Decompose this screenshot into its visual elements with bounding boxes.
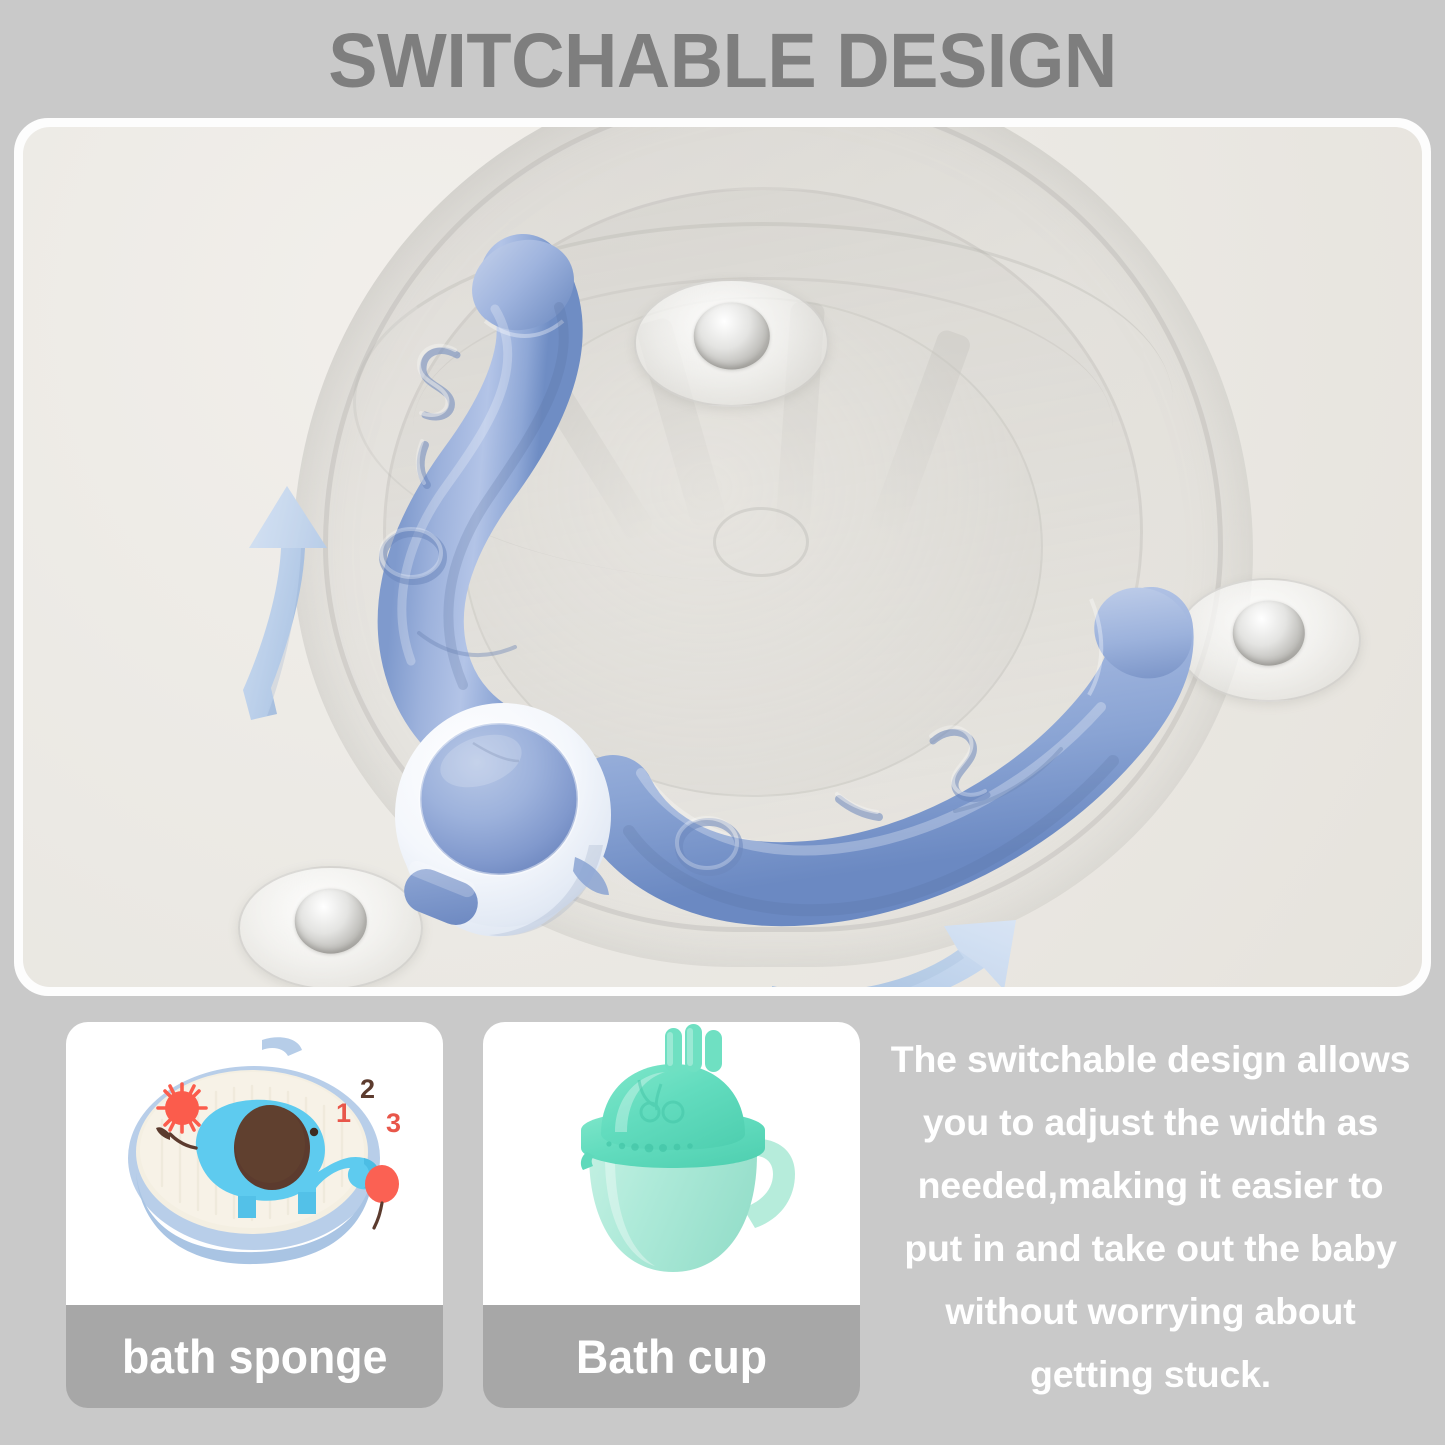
- description-line: needed,making it easier to: [868, 1154, 1433, 1217]
- hero-product-photo: [23, 127, 1422, 987]
- adjust-right-arrow-icon: [768, 902, 1048, 987]
- description-line: The switchable design allows: [868, 1028, 1433, 1091]
- center-hinge-hub[interactable]: [389, 699, 617, 944]
- suction-cup-icon: [634, 279, 829, 407]
- adjust-left-arrow-icon: [223, 482, 343, 727]
- description-line: you to adjust the width as: [868, 1091, 1433, 1154]
- right-adjustable-arm: [583, 547, 1203, 947]
- description-block: The switchable design allows you to adju…: [868, 1028, 1433, 1406]
- sponge-number-3: 3: [386, 1108, 401, 1138]
- product-card-bath-cup[interactable]: [483, 1022, 860, 1305]
- embossed-dash-motif: [837, 794, 879, 817]
- description-line: getting stuck.: [868, 1343, 1433, 1406]
- caption-label-bath-sponge: bath sponge: [122, 1329, 387, 1384]
- description-line: without worrying about: [868, 1280, 1433, 1343]
- page-title: SWITCHABLE DESIGN: [29, 18, 1416, 104]
- rabbit-ears-icon: [665, 1024, 722, 1072]
- embossed-dash-motif: [418, 441, 427, 485]
- bath-tub-drain: [713, 507, 809, 577]
- sponge-number-1: 1: [336, 1098, 351, 1128]
- bath-tub-rib: [867, 328, 972, 542]
- caption-bar-bath-sponge: bath sponge: [66, 1305, 443, 1408]
- rabbit-bath-cup-icon: [483, 1022, 860, 1305]
- embossed-s-motif: [931, 727, 987, 798]
- embossed-s-motif: [419, 346, 457, 417]
- caption-label-bath-cup: Bath cup: [576, 1329, 767, 1384]
- sponge-number-2: 2: [360, 1074, 375, 1104]
- embossed-circle-motif: [381, 529, 443, 581]
- balloon-motif: [365, 1165, 399, 1228]
- caption-bar-bath-cup: Bath cup: [483, 1305, 860, 1408]
- embossed-circle-motif: [677, 818, 739, 872]
- product-card-bath-sponge[interactable]: 1 2 3: [66, 1022, 443, 1305]
- elephant-bath-sponge-icon: 1 2 3: [66, 1022, 443, 1305]
- flower-motif: [158, 1084, 206, 1132]
- bath-tub-rib: [540, 382, 656, 542]
- left-adjustable-arm: [271, 237, 571, 757]
- hero-image-panel: [14, 118, 1431, 996]
- suction-cup-icon: [1176, 578, 1361, 702]
- description-line: put in and take out the baby: [868, 1217, 1433, 1280]
